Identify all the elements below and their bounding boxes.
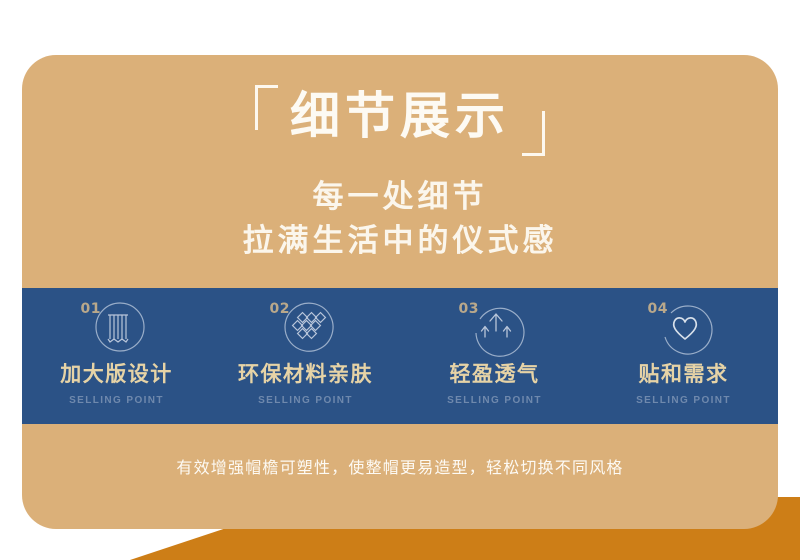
selling-point-3: 03 轻盈透气 SELLING POINT [400,288,589,406]
promo-banner: 细节展示 每一处细节 拉满生活中的仪式感 01 [0,0,800,560]
selling-point-subtitle: SELLING POINT [211,395,400,406]
selling-point-2: 02 环保材料亲肤 SELLING POINT [211,288,400,406]
selling-point-4: 04 贴和需求 SELLING POINT [589,288,778,406]
selling-point-label: 环保材料亲肤 [211,360,400,388]
subtitle-line-1: 每一处细节 [22,175,778,219]
selling-point-subtitle: SELLING POINT [22,395,211,406]
selling-point-number: 02 [270,301,290,317]
subtitle-line-2: 拉满生活中的仪式感 [22,219,778,263]
selling-point-band: 01 加大版设计 SELLING POINT [22,288,778,424]
title-row: 细节展示 [22,83,778,155]
pleats-icon: 01 [80,299,154,357]
caption-area: 有效增强帽檐可塑性，使整帽更易造型，轻松切换不同风格 [22,424,778,529]
selling-point-subtitle: SELLING POINT [400,395,589,406]
bracket-close-icon [522,111,545,156]
selling-point-label: 贴和需求 [589,360,778,388]
selling-point-label: 轻盈透气 [400,360,589,388]
card-header: 细节展示 每一处细节 拉满生活中的仪式感 [22,55,778,288]
bracket-open-icon [255,85,278,130]
heart-icon: 04 [647,299,721,357]
caption-text: 有效增强帽檐可塑性，使整帽更易造型，轻松切换不同风格 [176,454,623,478]
selling-point-number: 03 [459,301,479,317]
selling-point-number: 01 [81,301,101,317]
selling-point-label: 加大版设计 [22,360,211,388]
diamond-lattice-icon: 02 [269,299,343,357]
up-arrows-icon: 03 [458,299,532,357]
page-title: 细节展示 [290,83,510,149]
promo-card: 细节展示 每一处细节 拉满生活中的仪式感 01 [22,55,778,529]
title-wrap: 细节展示 [255,83,545,156]
selling-point-subtitle: SELLING POINT [589,395,778,406]
selling-point-1: 01 加大版设计 SELLING POINT [22,288,211,406]
subtitle: 每一处细节 拉满生活中的仪式感 [22,175,778,263]
selling-point-number: 04 [648,301,668,317]
